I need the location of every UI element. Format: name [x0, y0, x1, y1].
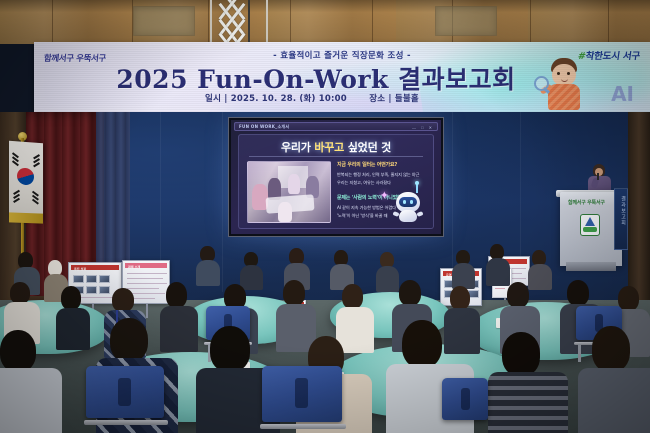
- podium-base: [566, 262, 616, 271]
- banner-place-label: 장소: [369, 94, 385, 104]
- side-wall-sign-text: 결과보고회: [620, 196, 627, 226]
- wood-seam: [608, 0, 609, 44]
- slide-title-part-c: 싶었던 것: [348, 141, 391, 154]
- window-controls-icon: — □ ✕: [412, 125, 434, 130]
- slide-bullet: 반복되는 행정 처리, 인력 부족, 줄지지 않는 야근: [337, 171, 427, 179]
- banner-main-title: 2025 Fun-On-Work 결과보고회: [34, 60, 598, 96]
- wall-panel-seam: [222, 112, 223, 292]
- chair: [262, 366, 342, 422]
- korean-flag-icon: [9, 141, 43, 221]
- seo-gu-emblem-icon: [580, 214, 600, 236]
- banner-divider-1: |: [224, 94, 227, 104]
- presentation-slide: FUN ON WORK_소개서 — □ ✕ 우리가 바꾸고 싶었던 것: [231, 120, 441, 234]
- projection-screen: FUN ON WORK_소개서 — □ ✕ 우리가 바꾸고 싶었던 것: [228, 117, 444, 237]
- banner-ai-text: AI: [611, 82, 634, 106]
- banner-divider-2: |: [388, 94, 391, 104]
- banner-date-label: 일시: [205, 94, 221, 104]
- chair-bar: [84, 420, 168, 425]
- wood-seam: [372, 0, 373, 44]
- poster-board-header: 과제 소개: [125, 263, 167, 268]
- ceiling-wood-wall: [0, 0, 650, 44]
- poster-board-header-text: 추진 성과: [74, 267, 86, 271]
- chair-bar: [260, 424, 346, 429]
- slide-title-divider: [249, 156, 423, 157]
- slide-title-part-a: 우리가: [281, 141, 314, 154]
- banner-right-logo-text: 착한도시 서구: [585, 51, 641, 62]
- slide-workshop-photo: [247, 161, 331, 223]
- sparkle-icon: ✦: [380, 189, 389, 202]
- banner-meta-line: 일시 | 2025. 10. 28. (화) 10:00 장소 | 들불홀: [34, 92, 590, 104]
- chair: [86, 366, 164, 418]
- slide-content-card: 우리가 바꾸고 싶었던 것 지금 우리의 일터는 어떤가요? 반복되는 행정 처…: [238, 134, 434, 229]
- slide-title-part-b: 바꾸고: [314, 141, 347, 154]
- poster-board-header-text: 과제 소개: [128, 265, 140, 269]
- wood-wall-panel: [133, 6, 195, 36]
- slide-robot-mascot-icon: [393, 186, 423, 222]
- slide-heading-1: 지금 우리의 일터는 어떤가요?: [337, 161, 427, 168]
- banner-date-value: 2025. 10. 28. (화) 10:00: [231, 94, 347, 104]
- poster-board-header: 추진 성과: [71, 265, 119, 270]
- slide-window-titlebar: FUN ON WORK_소개서 — □ ✕: [234, 122, 438, 131]
- wood-wall-panel: [435, 6, 497, 36]
- microphone-icon: [597, 173, 599, 180]
- wood-seam: [52, 0, 53, 44]
- podium-sign-text: 함께서구 우뚝서구: [568, 199, 605, 206]
- wall-panel-seam: [452, 112, 453, 292]
- banner-mascot-icon: [542, 58, 588, 112]
- chair: [442, 378, 488, 420]
- wood-seam: [530, 0, 531, 44]
- led-stage-banner: 함께서구 우뚝서구 - 효율적이고 즐거운 직장문화 조성 - 2025 Fun…: [34, 42, 650, 114]
- slide-title: 우리가 바꾸고 싶었던 것: [239, 139, 433, 155]
- banner-place-value: 들불홀: [395, 94, 419, 104]
- slide-window-title: FUN ON WORK_소개서: [239, 124, 289, 130]
- conference-photo-scene: 함께서구 우뚝서구 - 효율적이고 즐거운 직장문화 조성 - 2025 Fun…: [0, 0, 650, 433]
